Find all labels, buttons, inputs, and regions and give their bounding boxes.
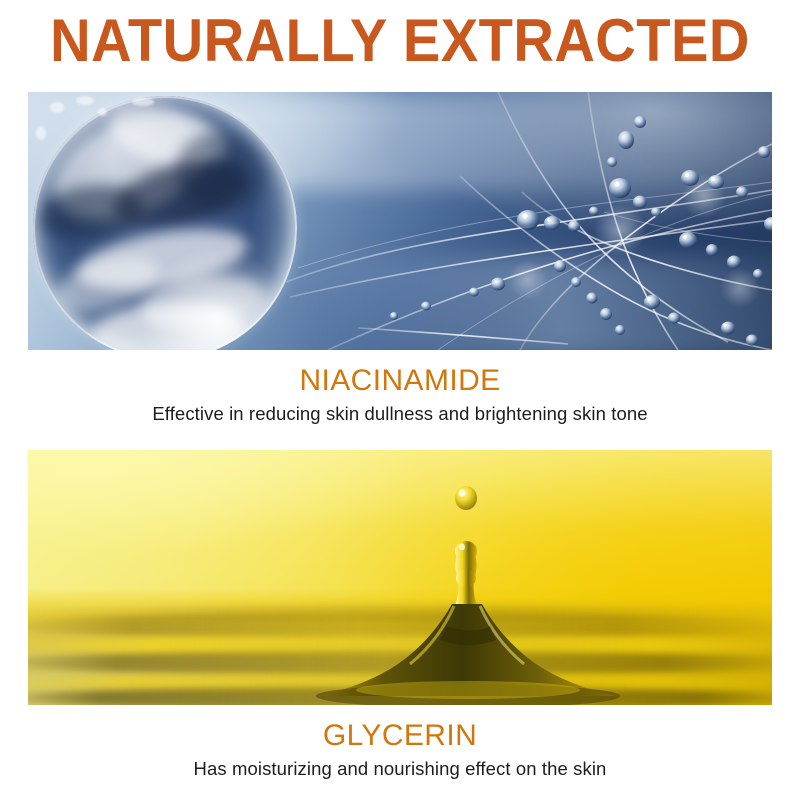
ingredient-block-glycerin: GLYCERIN Has moisturizing and nourishing… xyxy=(0,450,800,781)
ingredient-block-niacinamide: NIACINAMIDE Effective in reducing skin d… xyxy=(0,92,800,426)
product-ingredient-infographic: NATURALLY EXTRACTED xyxy=(0,0,800,800)
glycerin-photo xyxy=(28,450,772,705)
ingredient-description-glycerin: Has moisturizing and nourishing effect o… xyxy=(0,757,800,781)
page-title: NATURALLY EXTRACTED xyxy=(26,8,774,74)
ingredient-name-glycerin: GLYCERIN xyxy=(0,719,800,753)
oil-droplet-splash-icon xyxy=(28,450,772,705)
ingredient-description-niacinamide: Effective in reducing skin dullness and … xyxy=(0,402,800,426)
niacinamide-photo xyxy=(28,92,772,350)
water-droplet-web xyxy=(28,92,772,350)
ingredient-name-niacinamide: NIACINAMIDE xyxy=(0,364,800,398)
